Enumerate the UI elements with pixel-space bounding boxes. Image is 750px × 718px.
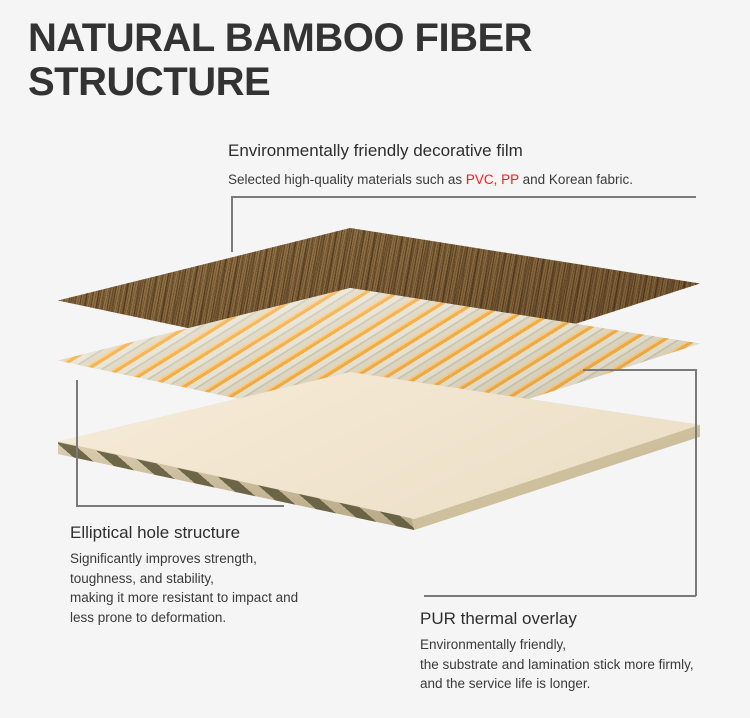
leader-line-elliptical-hole-horizontal <box>76 505 284 507</box>
leader-line-pur-vertical <box>695 369 697 596</box>
leader-line-pur-top <box>583 369 696 371</box>
annotation-heading-decorative-film: Environmentally friendly decorative film <box>228 141 523 161</box>
infographic-canvas: NATURAL BAMBOO FIBER STRUCTURE Environme… <box>0 0 750 718</box>
leader-line-decorative-film-horizontal <box>231 196 696 198</box>
decorative-film-body-prefix: Selected high-quality materials such as <box>228 172 466 187</box>
layer-bamboo-fiber-core-shading <box>58 288 700 436</box>
leader-line-pur-bottom <box>424 595 696 597</box>
annotation-body-decorative-film: Selected high-quality materials such as … <box>228 170 698 190</box>
decorative-film-body-highlight: PVC, PP <box>466 172 519 187</box>
page-title: NATURAL BAMBOO FIBER STRUCTURE <box>28 16 688 104</box>
layer-wood-decorative-film <box>58 228 700 376</box>
annotation-body-elliptical-hole: Significantly improves strength, toughne… <box>70 549 370 627</box>
annotation-body-pur-overlay: Environmentally friendly, the substrate … <box>420 635 740 694</box>
leader-line-decorative-film-vertical <box>231 196 233 252</box>
annotation-heading-pur-overlay: PUR thermal overlay <box>420 609 577 629</box>
annotation-heading-elliptical-hole: Elliptical hole structure <box>70 523 240 543</box>
layer-bamboo-fiber-core <box>58 288 700 436</box>
leader-line-elliptical-hole-vertical <box>76 380 78 506</box>
decorative-film-body-suffix: and Korean fabric. <box>519 172 633 187</box>
